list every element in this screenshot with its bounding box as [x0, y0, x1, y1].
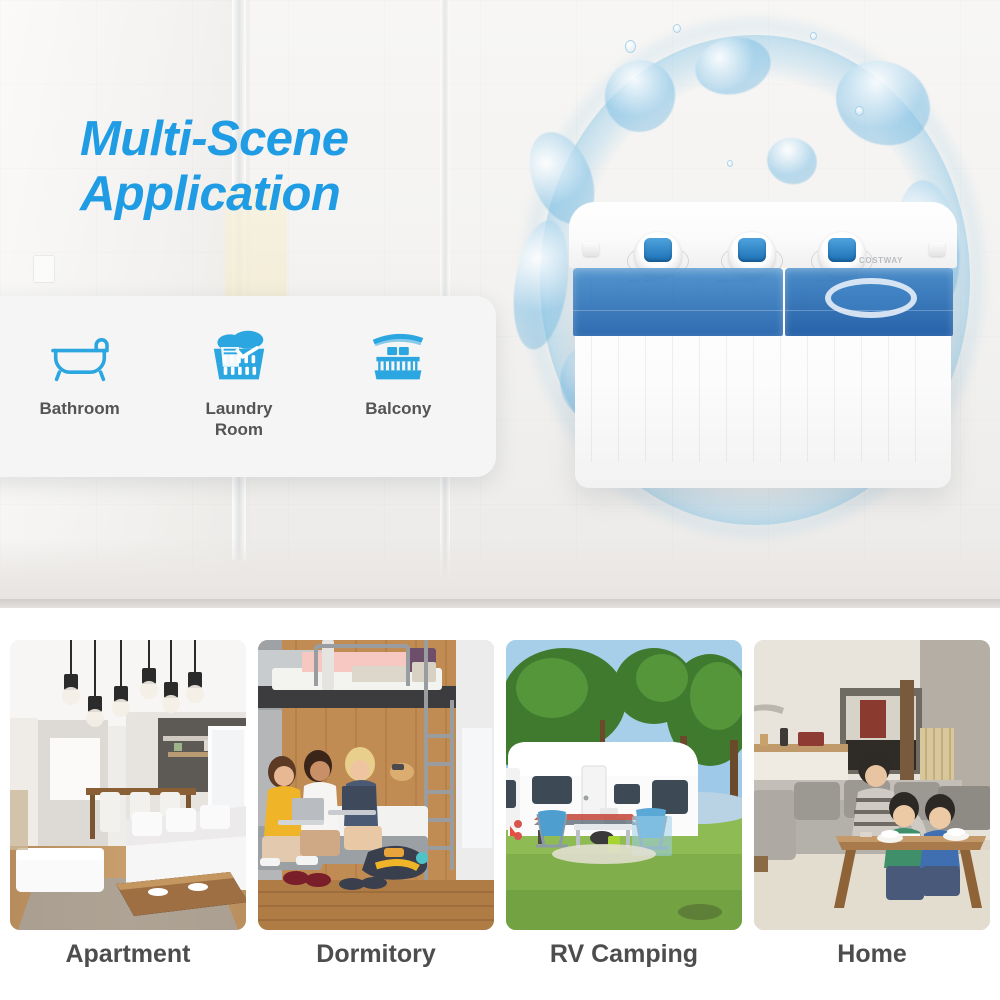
scene-item-bathroom[interactable]: Bathroom: [0, 326, 159, 419]
photo-label-rv-camping: RV Camping: [506, 940, 742, 969]
water-droplet: [673, 24, 681, 33]
rv-camping-scene: [506, 640, 742, 930]
scene-item-laundry-room[interactable]: Laundry Room: [159, 326, 318, 441]
scene-photo-strip: [10, 640, 990, 930]
lid-seam: [573, 310, 783, 311]
photo-rv-camping[interactable]: [506, 640, 742, 930]
lid-seam: [785, 310, 953, 311]
background-light-switch: [33, 255, 55, 283]
bathtub-icon: [44, 326, 116, 386]
photo-label-dormitory: Dormitory: [258, 940, 494, 969]
laundry-basket-icon: [203, 326, 275, 386]
brand-logo: COSTWAY: [859, 256, 903, 265]
photo-home[interactable]: [754, 640, 990, 930]
photo-label-home: Home: [754, 940, 990, 969]
photo-dormitory[interactable]: [258, 640, 494, 930]
page-title: Multi-Scene Application: [80, 112, 500, 222]
product-marketing-image: Multi-Scene Application: [0, 0, 1000, 1000]
home-scene: [754, 640, 990, 930]
scene-label: Bathroom: [40, 398, 120, 419]
scene-label: Balcony: [365, 398, 431, 419]
hero-bottom-shadow: [0, 599, 1000, 608]
washing-machine: WASH TIMER WASH SELECTION SPIN TIMER COS…: [563, 160, 963, 490]
drain-selector-knob: [583, 242, 599, 256]
photo-label-apartment: Apartment: [10, 940, 246, 969]
dormitory-scene: [258, 640, 494, 930]
scene-photo-labels: Apartment Dormitory RV Camping Home: [10, 940, 990, 969]
product-showcase: WASH TIMER WASH SELECTION SPIN TIMER COS…: [505, 10, 1000, 570]
wash-tub-lid: [573, 268, 783, 336]
water-droplet: [810, 32, 817, 40]
hero-section: Multi-Scene Application: [0, 0, 1000, 608]
scene-item-balcony[interactable]: Balcony: [319, 326, 478, 419]
apartment-scene: [10, 640, 246, 930]
spin-tub-opening: [825, 278, 917, 318]
scene-card: Bathroom: [0, 296, 496, 477]
photo-apartment[interactable]: [10, 640, 246, 930]
side-fitting: [929, 242, 945, 256]
water-droplet: [855, 106, 864, 116]
balcony-icon: [362, 326, 434, 386]
water-droplet: [625, 40, 636, 53]
scene-label: Laundry Room: [205, 398, 272, 441]
